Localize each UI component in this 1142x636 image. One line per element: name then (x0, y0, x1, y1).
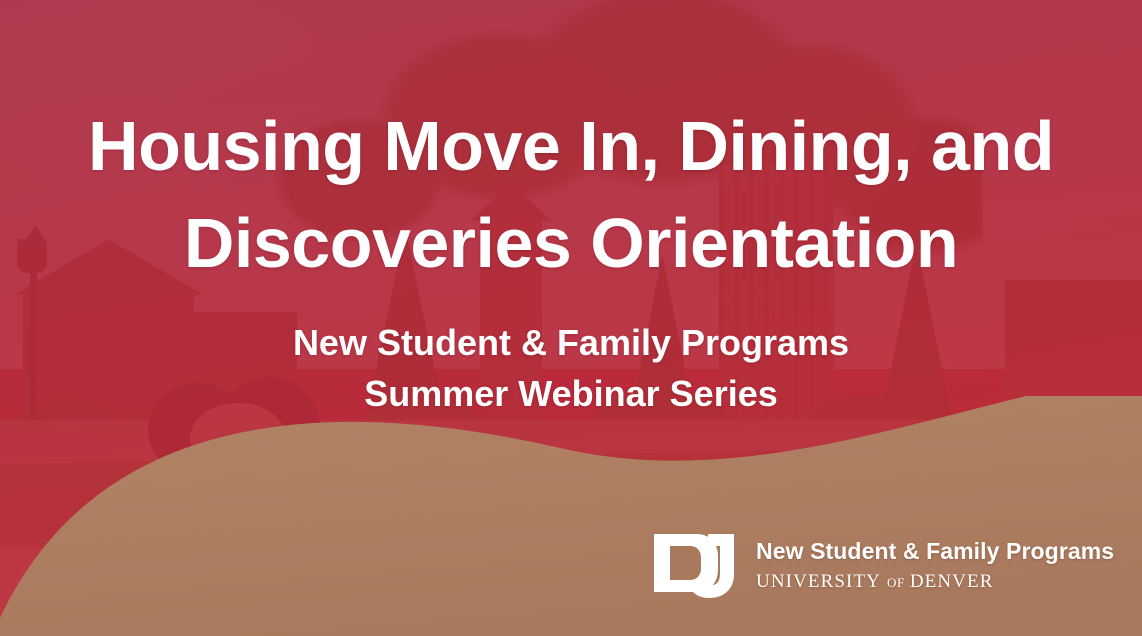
logo-primary-line: New Student & Family Programs (756, 540, 1114, 563)
logo-university-word: UNIVERSITY (756, 571, 881, 592)
du-logo-text: New Student & Family Programs UNIVERSITY… (756, 540, 1114, 591)
webinar-title-slide: Housing Move In, Dining, and Discoveries… (0, 0, 1142, 636)
du-monogram-icon (650, 528, 738, 602)
logo-of-word: OF (887, 575, 905, 590)
logo-secondary-line: UNIVERSITYOFDENVER (756, 572, 1114, 591)
logo-denver-word: DENVER (910, 571, 994, 592)
du-logo-lockup: New Student & Family Programs UNIVERSITY… (650, 528, 1114, 602)
